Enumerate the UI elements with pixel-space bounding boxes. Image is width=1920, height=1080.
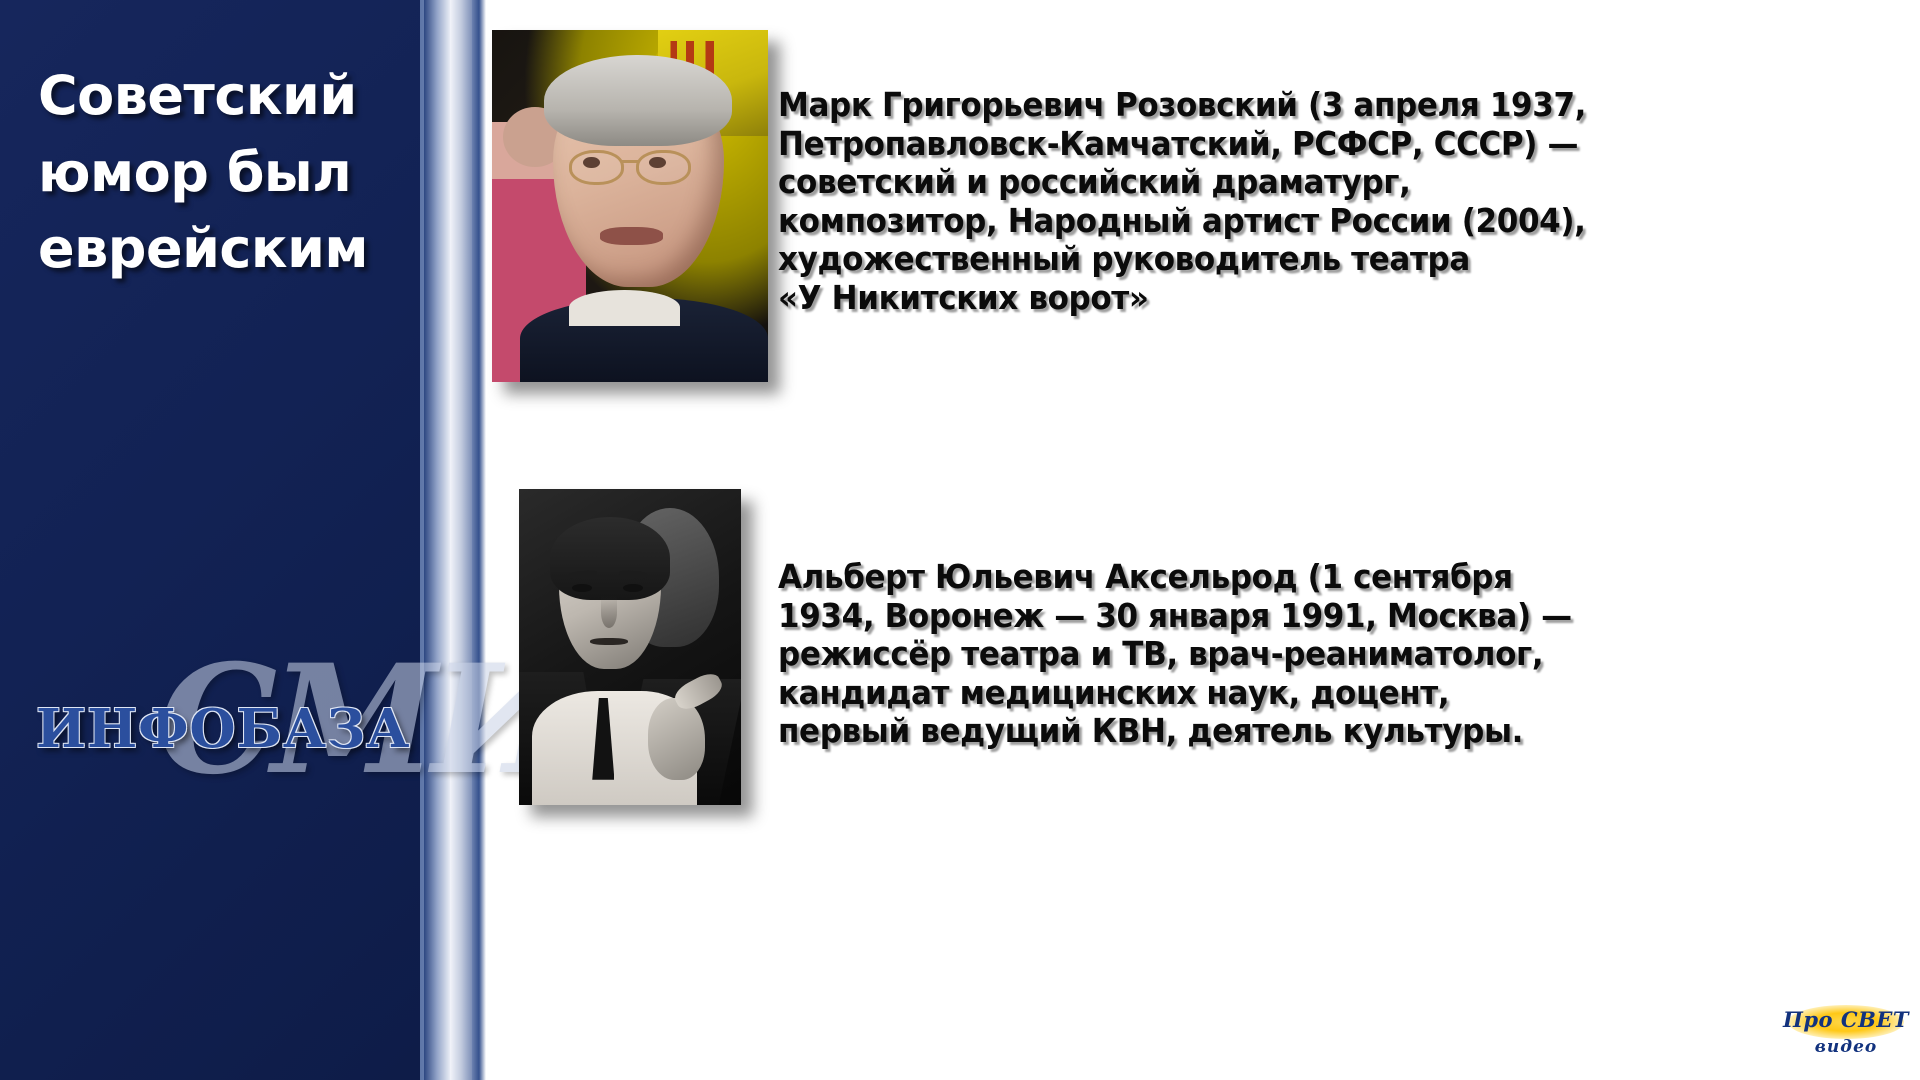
photo-1-hair (544, 55, 732, 147)
photo-1-collar (569, 290, 679, 325)
photo-1-eyeglass-bridge (622, 160, 639, 163)
photo-2-eye-right (623, 584, 643, 592)
photo-2-hand (648, 698, 706, 780)
corner-brand-line1: Про СВЕТ (1782, 1007, 1910, 1032)
photo-2-nose (601, 596, 617, 628)
bio-text-2: Альберт Юльевич Аксельрод (1 сентября 19… (778, 558, 1840, 751)
bio-text-1: Марк Григорьевич Розовский (3 апреля 193… (778, 86, 1840, 317)
corner-brand-logo: Про СВЕТ видео (1782, 1003, 1910, 1069)
portrait-photo-2 (519, 489, 741, 805)
sidebar-highlight-stripe-3 (472, 0, 486, 1080)
photo-1-eye-right (649, 157, 666, 168)
photo-2-hair (550, 517, 670, 599)
sidebar-highlight-stripe-2 (450, 0, 472, 1080)
sidebar-logo: СМИ ИНФОБАЗА (28, 640, 428, 820)
slide-canvas: Советский юмор был еврейским СМИ ИНФОБАЗ… (0, 0, 1920, 1080)
logo-infobaza-text: ИНФОБАЗА (36, 698, 410, 760)
photo-1-eyeglass-left (569, 150, 624, 185)
slide-title: Советский юмор был еврейским (38, 58, 438, 288)
photo-1-eyeglass-right (636, 150, 691, 185)
photo-2-eye-left (572, 584, 592, 592)
corner-brand-line2: видео (1782, 1037, 1910, 1057)
photo-1-eye-left (583, 157, 600, 168)
photo-1-mouth (600, 227, 663, 245)
photo-2-mouth (590, 638, 628, 646)
portrait-photo-1 (492, 30, 768, 382)
